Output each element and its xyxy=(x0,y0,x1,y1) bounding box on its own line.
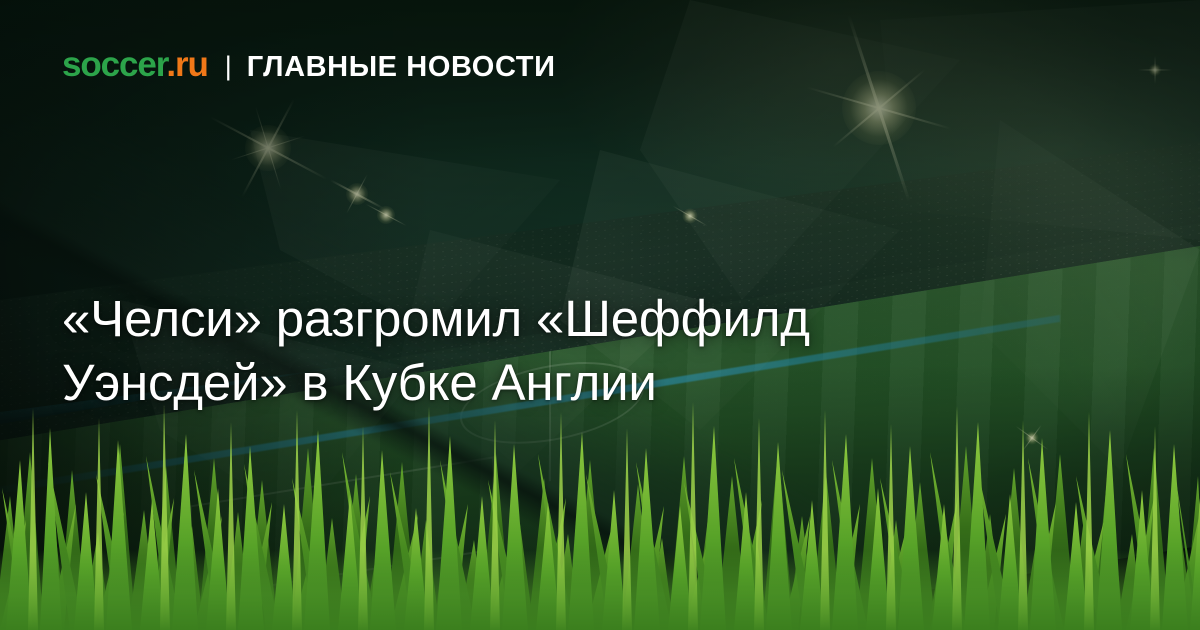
social-share-card: soccer.ru | ГЛАВНЫЕ НОВОСТИ «Челси» разг… xyxy=(0,0,1200,630)
site-logo[interactable]: soccer.ru xyxy=(62,47,208,82)
logo-tld-part: .ru xyxy=(166,45,207,84)
headline-text: «Челси» разгромил «Шеффилд Уэнсдей» в Ку… xyxy=(62,287,1042,416)
grass-foreground xyxy=(0,400,1200,630)
section-title: ГЛАВНЫЕ НОВОСТИ xyxy=(247,53,556,82)
site-header: soccer.ru | ГЛАВНЫЕ НОВОСТИ xyxy=(62,47,556,82)
logo-name-part: soccer xyxy=(62,45,166,84)
header-separator: | xyxy=(225,53,232,80)
